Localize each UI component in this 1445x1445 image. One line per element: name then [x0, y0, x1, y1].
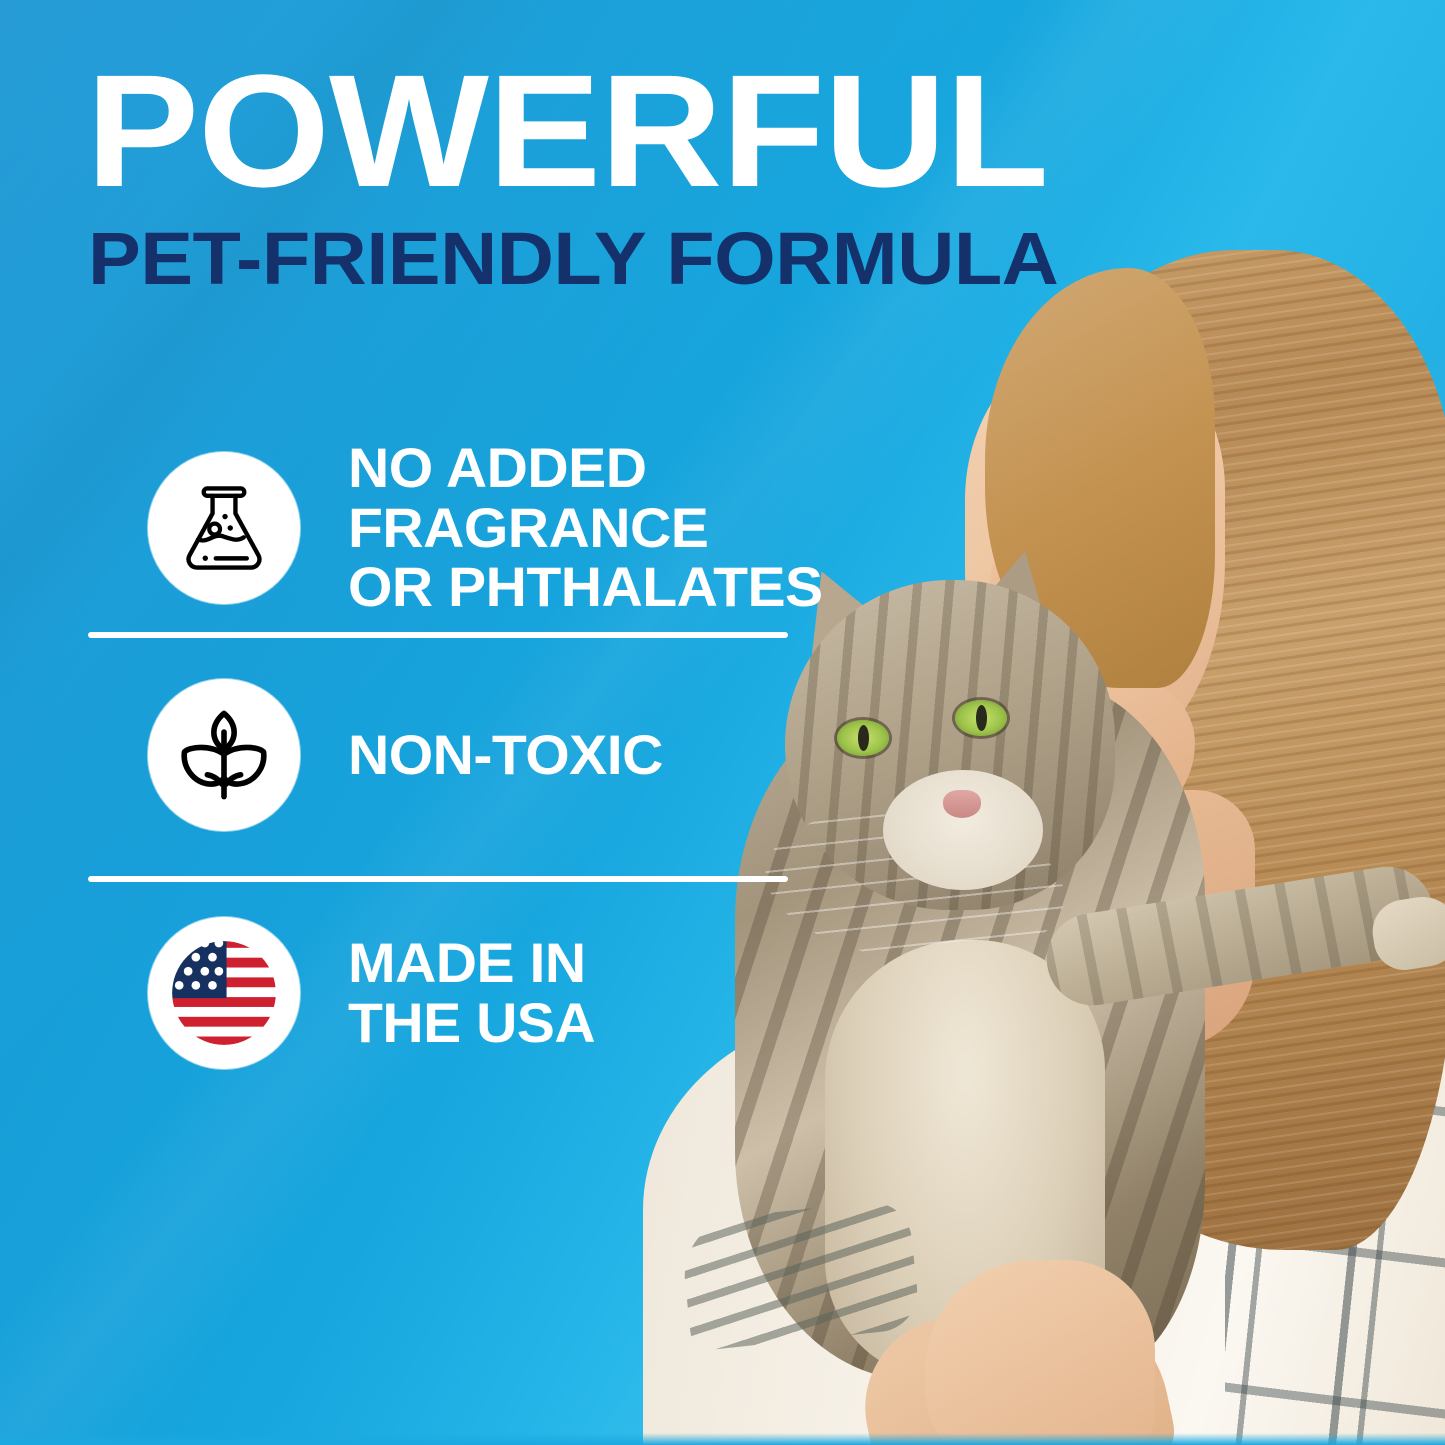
feature-icon-badge: [148, 452, 300, 604]
feature-label: MADE IN THE USA: [348, 933, 595, 1052]
cat-pupil-right: [976, 705, 987, 731]
headline-secondary: PET-FRIENDLY FORMULA: [88, 222, 1286, 296]
cat-muzzle: [883, 770, 1043, 890]
feature-label: NON-TOXIC: [348, 725, 663, 784]
cat-nose: [943, 790, 981, 818]
flask-icon: [172, 476, 276, 580]
feature-divider-2: [88, 876, 788, 882]
feature-row-no-added-fragrance: NO ADDED FRAGRANCE OR PHTHALATES: [0, 420, 830, 635]
feature-icon-badge: [148, 917, 300, 1069]
marketing-banner: POWERFUL PET-FRIENDLY FORMULA: [0, 0, 1445, 1445]
bottom-edge-fade: [0, 1433, 1445, 1445]
feature-divider-1: [88, 632, 788, 638]
headline-primary: POWERFUL: [86, 54, 1273, 208]
feature-label: NO ADDED FRAGRANCE OR PHTHALATES: [348, 438, 823, 616]
feature-icon-badge: [148, 679, 300, 831]
usa-flag-icon: [160, 929, 288, 1057]
feature-row-non-toxic: NON-TOXIC: [0, 635, 830, 875]
plant-leaf-icon: [172, 703, 276, 807]
cat-pupil-left: [858, 725, 869, 751]
feature-list: NO ADDED FRAGRANCE OR PHTHALATES NON-TOX…: [0, 420, 830, 1110]
feature-row-made-in-usa: MADE IN THE USA: [0, 875, 830, 1110]
